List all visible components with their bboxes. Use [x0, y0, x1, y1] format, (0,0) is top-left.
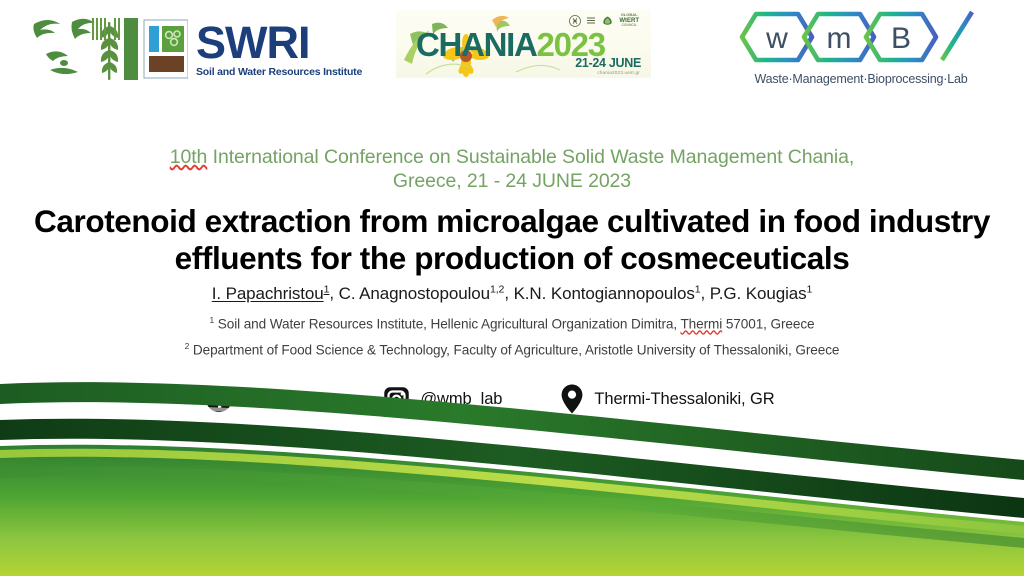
wtert-badge-text: GLOBAL WtERT COUNCIL [619, 13, 639, 28]
chania-url: chania2023.uest.gr [597, 70, 640, 75]
title-line-2: effluents for the production of cosmeceu… [0, 240, 1024, 277]
author-affiliation-marker: 1 [807, 283, 813, 295]
wtert-leaf-icon [601, 15, 614, 27]
author-name: K.N. Kontogiannopoulos [514, 284, 695, 303]
affiliation-1-text: Soil and Water Resources Institute, Hell… [214, 317, 680, 332]
author-4: P.G. Kougias1 [710, 284, 813, 303]
conference-line-1: 10th International Conference on Sustain… [0, 146, 1024, 170]
affiliation-1-tail: 57001, Greece [722, 317, 814, 332]
svg-text:w: w [765, 22, 788, 55]
author-separator: , [329, 284, 338, 303]
svg-text:B: B [891, 22, 911, 55]
author-3: K.N. Kontogiannopoulos1 [514, 284, 701, 303]
wmb-hexagons-icon: w m B [736, 8, 986, 66]
author-name: I. Papachristou [212, 284, 324, 303]
author-affiliation-marker: 1,2 [490, 283, 504, 295]
author-name: P.G. Kougias [710, 284, 807, 303]
presentation-slide: SWRI Soil and Water Resources Institute [0, 0, 1024, 576]
swri-name: SWRI [196, 22, 362, 65]
spellcheck-word-10th: 10th [170, 146, 208, 168]
affiliation-1: 1 Soil and Water Resources Institute, He… [0, 315, 1024, 332]
bars-emblem-icon [586, 15, 596, 27]
wmb-logo: w m B Waste·Management·Bioprocessing·Lab [736, 8, 986, 86]
conference-header: 10th International Conference on Sustain… [0, 146, 1024, 194]
author-name: C. Anagnostopoulou [339, 284, 490, 303]
conference-line-2: Greece, 21 - 24 JUNE 2023 [0, 170, 1024, 194]
swri-wordmark: SWRI Soil and Water Resources Institute [196, 22, 362, 79]
wmb-subtitle: Waste·Management·Bioprocessing·Lab [736, 72, 986, 86]
chania-dates: 21-24 JUNE [575, 56, 641, 70]
svg-text:m: m [827, 22, 852, 55]
conference-line-1-rest: International Conference on Sustainable … [207, 146, 854, 168]
affiliation-2: 2 Department of Food Science & Technolog… [0, 341, 1024, 358]
author-list: I. Papachristou1, C. Anagnostopoulou1,2,… [0, 283, 1024, 304]
author-separator: , [700, 284, 709, 303]
chania-word: CHANIA [416, 26, 537, 63]
conference-emblem-icon [569, 15, 581, 27]
swri-subtitle: Soil and Water Resources Institute [196, 66, 362, 78]
affiliation-2-text: Department of Food Science & Technology,… [189, 343, 839, 358]
author-2: C. Anagnostopoulou1,2 [339, 284, 505, 303]
chania2023-logo: GLOBAL WtERT COUNCIL CHANIA2023 21-24 JU… [396, 10, 651, 78]
spellcheck-word-thermi: Thermi [680, 317, 722, 332]
logo-bar: SWRI Soil and Water Resources Institute [0, 0, 1024, 105]
decorative-wave-graphic [0, 376, 1024, 576]
author-separator: , [504, 284, 513, 303]
title-line-1: Carotenoid extraction from microalgae cu… [0, 203, 1024, 240]
swri-emblem-icon [28, 10, 188, 90]
swri-logo: SWRI Soil and Water Resources Institute [28, 10, 362, 90]
author-1: I. Papachristou1 [212, 284, 330, 303]
page-title: Carotenoid extraction from microalgae cu… [0, 203, 1024, 277]
